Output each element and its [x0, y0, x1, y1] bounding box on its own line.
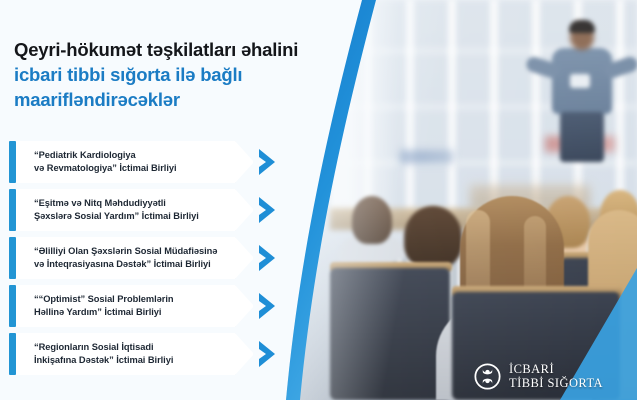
chevron-right-icon — [257, 147, 279, 177]
list-item-label: ““Optimist” Sosial Problemlərin Həllinə … — [34, 293, 244, 319]
list-item-label: “Eşitmə və Nitq Məhdudiyyətli Şəxslərə S… — [34, 197, 244, 223]
list-item[interactable]: “Əlilliyi Olan Şəxslərin Sosial Müdafiəs… — [9, 237, 294, 279]
chevron-right-icon — [257, 291, 279, 321]
insurance-emblem-icon — [474, 363, 501, 390]
list-item[interactable]: “Pediatrik Kardiologiya və Revmatologiya… — [9, 141, 294, 183]
logo-line-1: İCBARİ — [509, 362, 603, 376]
chevron-right-icon — [257, 339, 279, 369]
card-accent-bar — [9, 333, 16, 375]
list-item-label: “Əlilliyi Olan Şəxslərin Sosial Müdafiəs… — [34, 245, 244, 271]
card-accent-bar — [9, 237, 16, 279]
headline-line-3: maarifləndirəcəklər — [14, 88, 364, 113]
list-item-label: “Regionların Sosial İqtisadi İnkişafına … — [34, 341, 244, 367]
list-item-label: “Pediatrik Kardiologiya və Revmatologiya… — [34, 149, 244, 175]
list-item[interactable]: “Regionların Sosial İqtisadi İnkişafına … — [9, 333, 294, 375]
page-title: Qeyri-hökumət təşkilatları əhalini icbar… — [14, 38, 364, 112]
logo-wordmark: İCBARİ TİBBİ SIĞORTA — [509, 362, 603, 390]
headline-line-1: Qeyri-hökumət təşkilatları əhalini — [14, 38, 364, 63]
logo-line-2: TİBBİ SIĞORTA — [509, 376, 603, 390]
organization-list: “Pediatrik Kardiologiya və Revmatologiya… — [9, 141, 294, 381]
banner-content: Qeyri-hökumət təşkilatları əhalini icbar… — [0, 0, 637, 400]
promo-banner: Qeyri-hökumət təşkilatları əhalini icbar… — [0, 0, 637, 400]
icbari-tibbi-sigorta-logo: İCBARİ TİBBİ SIĞORTA — [474, 362, 603, 390]
card-accent-bar — [9, 141, 16, 183]
chevron-right-icon — [257, 243, 279, 273]
headline-line-2: icbari tibbi sığorta ilə bağlı — [14, 63, 364, 88]
list-item[interactable]: ““Optimist” Sosial Problemlərin Həllinə … — [9, 285, 294, 327]
card-accent-bar — [9, 189, 16, 231]
list-item[interactable]: “Eşitmə və Nitq Məhdudiyyətli Şəxslərə S… — [9, 189, 294, 231]
chevron-right-icon — [257, 195, 279, 225]
card-accent-bar — [9, 285, 16, 327]
